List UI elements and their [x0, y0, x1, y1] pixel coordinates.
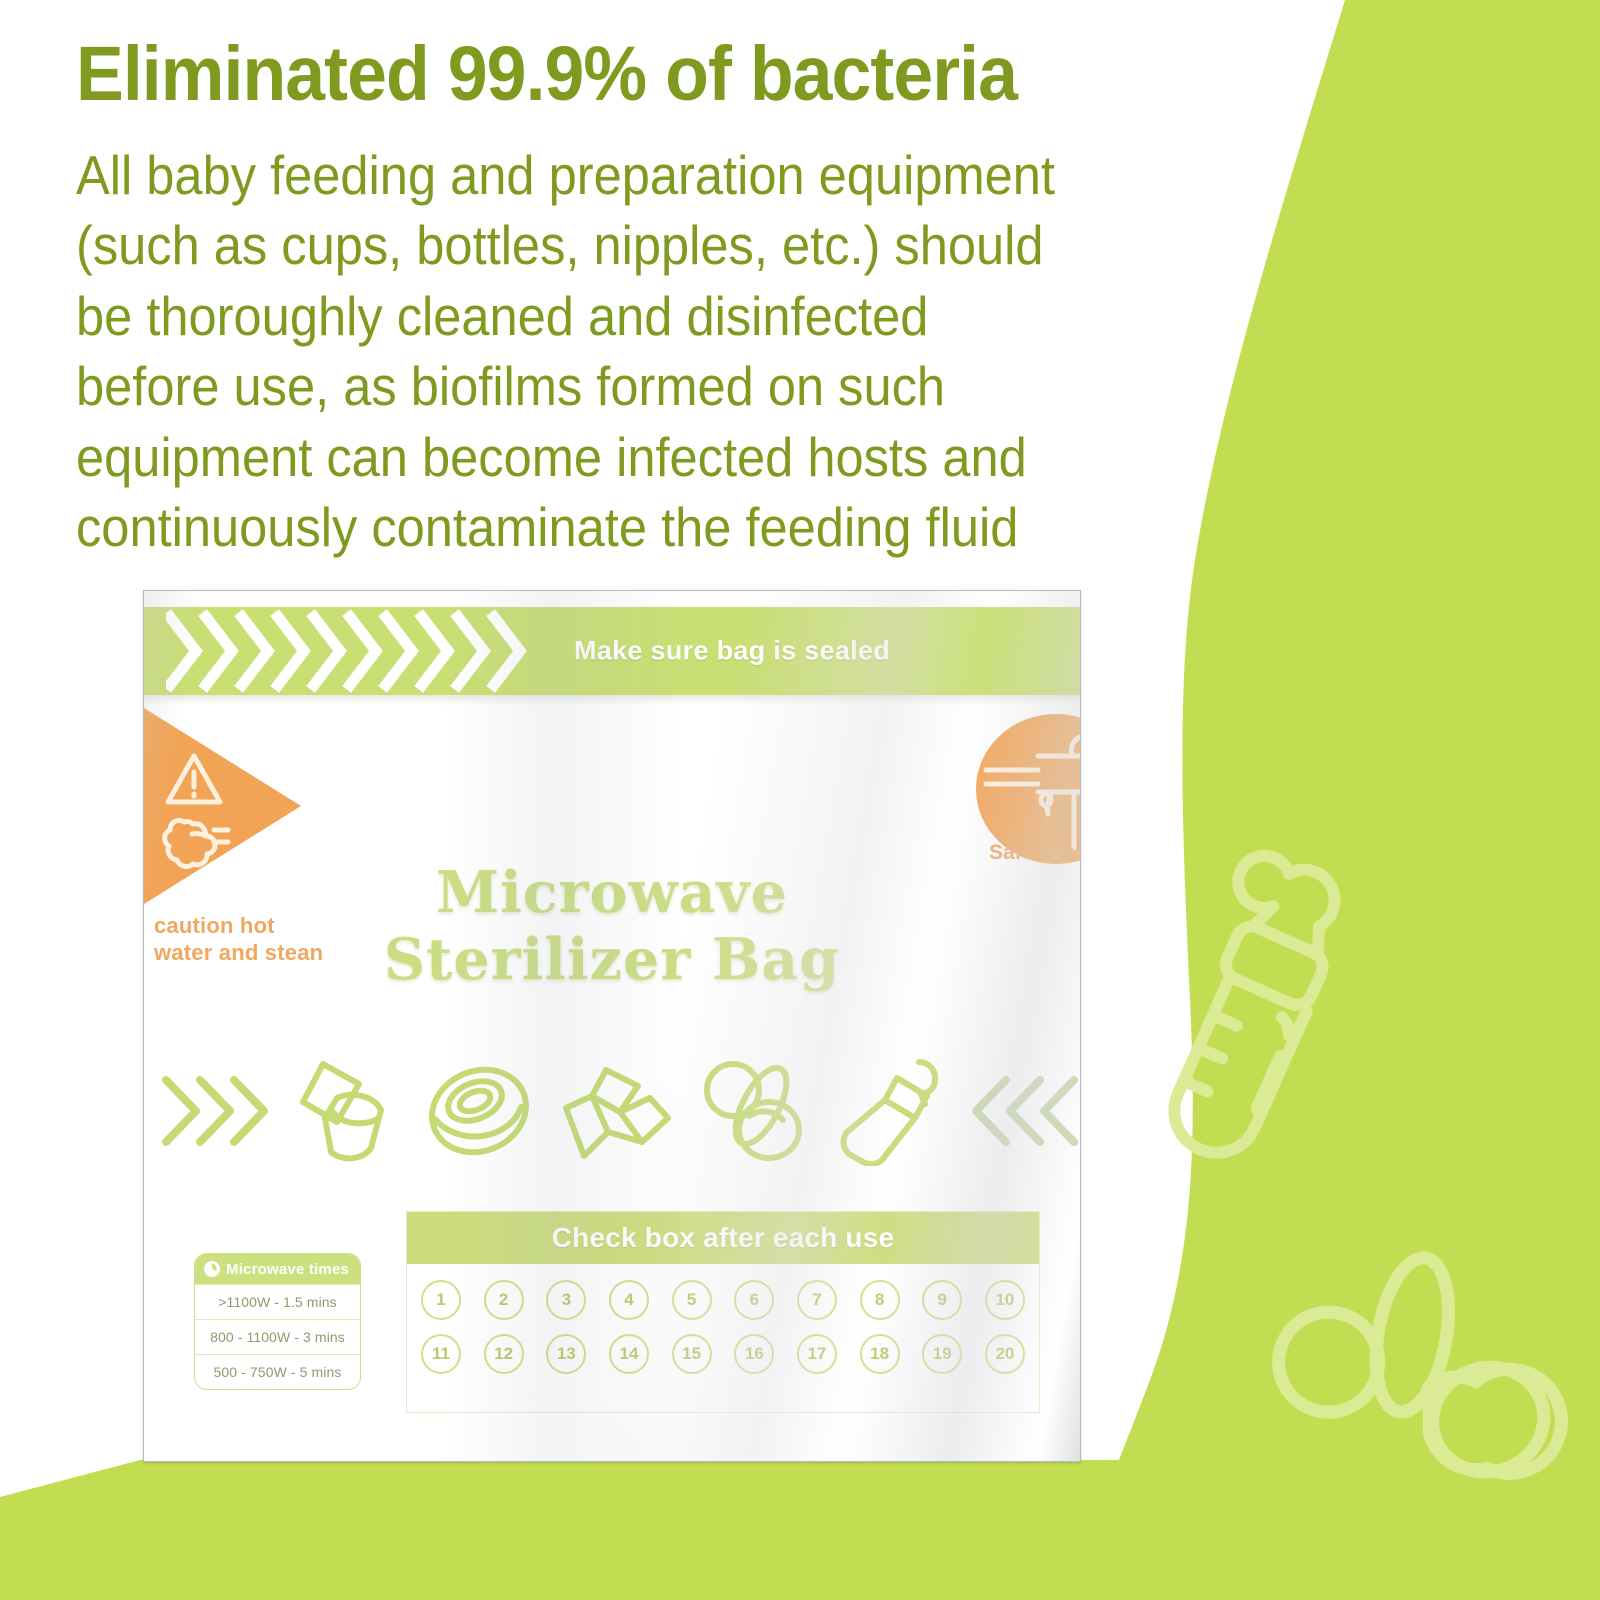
- microwave-times-row: 500 - 750W - 5 mins: [195, 1354, 360, 1389]
- check-box[interactable]: 4: [609, 1280, 649, 1320]
- body-line: before use, as biofilms formed on such: [76, 351, 1162, 421]
- chevrons-left-icon: [964, 1068, 1081, 1154]
- body-copy: All baby feeding and preparation equipme…: [76, 140, 1162, 562]
- baby-bottle-icon: [831, 1056, 947, 1166]
- microwave-times-row: 800 - 1100W - 3 mins: [195, 1319, 360, 1354]
- product-image: Make sure bag is sealed caution hot wate…: [143, 590, 1081, 1462]
- steam-icon: [165, 820, 228, 866]
- check-box[interactable]: 14: [609, 1334, 649, 1374]
- check-box[interactable]: 12: [484, 1334, 524, 1374]
- check-box[interactable]: 11: [421, 1334, 461, 1374]
- check-box-panel: Check box after each use 1 2 3 4 5 6 7 8…: [406, 1211, 1040, 1413]
- page-title: Eliminated 99.9% of bacteria: [76, 34, 1146, 114]
- check-box[interactable]: 1: [421, 1280, 461, 1320]
- item-icon-row: [152, 1046, 1081, 1176]
- check-box-row: 1 2 3 4 5 6 7 8 9 10: [421, 1280, 1025, 1320]
- seal-strip-label: Make sure bag is sealed: [574, 636, 890, 667]
- check-box-row: 11 12 13 14 15 16 17 18 19 20: [421, 1334, 1025, 1374]
- check-box[interactable]: 2: [484, 1280, 524, 1320]
- teether-ring-icon: [421, 1061, 539, 1161]
- check-box[interactable]: 7: [797, 1280, 837, 1320]
- check-box[interactable]: 15: [672, 1334, 712, 1374]
- caution-icons: [162, 746, 248, 896]
- check-box[interactable]: 16: [734, 1334, 774, 1374]
- microwave-times-card: Microwave times >1100W - 1.5 mins 800 - …: [194, 1253, 361, 1390]
- microwave-times-row: >1100W - 1.5 mins: [195, 1284, 360, 1319]
- check-box[interactable]: 20: [985, 1334, 1025, 1374]
- brand-line-2: Sterilizer Bag: [144, 926, 1080, 993]
- body-line: continuously contaminate the feeding flu…: [76, 492, 1162, 562]
- brand-title: Microwave Sterilizer Bag: [144, 859, 1080, 994]
- sippy-cup-icon: [293, 1056, 405, 1166]
- check-box[interactable]: 9: [922, 1280, 962, 1320]
- microwave-times-header: Microwave times: [195, 1254, 360, 1284]
- check-box[interactable]: 3: [546, 1280, 586, 1320]
- body-line: equipment can become infected hosts and: [76, 422, 1162, 492]
- check-box-title: Check box after each use: [407, 1212, 1039, 1264]
- brand-line-1: Microwave: [144, 859, 1080, 926]
- clock-icon: [203, 1260, 221, 1278]
- check-box[interactable]: 17: [797, 1334, 837, 1374]
- check-box[interactable]: 5: [672, 1280, 712, 1320]
- breast-pump-icon: [556, 1056, 680, 1166]
- body-line: All baby feeding and preparation equipme…: [76, 140, 1162, 210]
- microwave-times-title: Microwave times: [226, 1261, 349, 1278]
- chevrons-right-icon: [158, 1068, 276, 1154]
- check-box[interactable]: 19: [922, 1334, 962, 1374]
- chevrons-right-icon: [166, 607, 566, 695]
- check-box[interactable]: 18: [860, 1334, 900, 1374]
- body-line: (such as cups, bottles, nipples, etc.) s…: [76, 210, 1162, 280]
- pacifier-icon: [697, 1056, 815, 1166]
- warning-triangle-icon: [168, 756, 220, 802]
- check-box[interactable]: 6: [734, 1280, 774, 1320]
- check-box[interactable]: 8: [860, 1280, 900, 1320]
- seal-strip: Make sure bag is sealed: [144, 607, 1080, 695]
- check-box[interactable]: 13: [546, 1334, 586, 1374]
- green-bottom-band: [0, 1460, 1600, 1600]
- body-line: be thoroughly cleaned and disinfected: [76, 281, 1162, 351]
- check-box[interactable]: 10: [985, 1280, 1025, 1320]
- check-box-grid: 1 2 3 4 5 6 7 8 9 10 11 12 13 14 15 16 1…: [407, 1264, 1039, 1374]
- strip-shadow: [144, 695, 1080, 705]
